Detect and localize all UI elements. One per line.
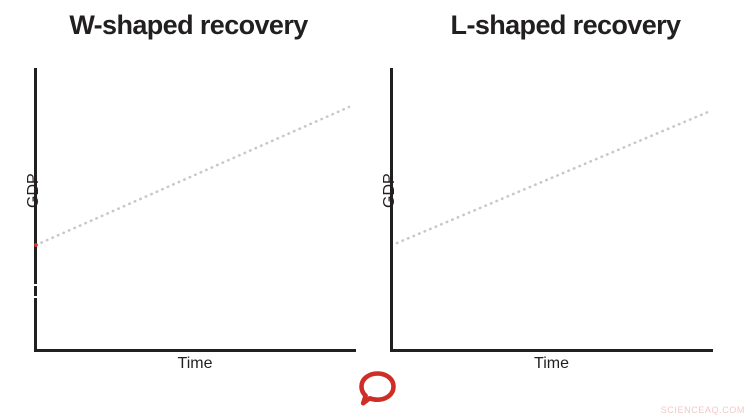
y-axis-line-w-shaped <box>34 68 37 352</box>
plot-area-w-shaped <box>34 68 356 352</box>
x-axis-label-l-shaped: Time <box>390 355 713 373</box>
y-axis-line-l-shaped <box>390 68 393 352</box>
y-axis-label-w-shaped: GDP <box>25 173 43 208</box>
plot-area-l-shaped <box>390 68 713 352</box>
chart-panel-w-shaped: W-shaped recovery GDP Time <box>0 0 377 390</box>
x-axis-line-w-shaped <box>34 349 356 352</box>
speech-bubble-logo <box>355 369 399 409</box>
y-axis-label-l-shaped: GDP <box>381 173 399 208</box>
figure-canvas: W-shaped recovery GDP Time L-shaped reco… <box>0 0 754 420</box>
chart-title-l-shaped: L-shaped recovery <box>377 10 754 41</box>
watermark-text: SCIENCEAQ.COM <box>661 405 745 415</box>
chart-title-w-shaped: W-shaped recovery <box>0 10 377 41</box>
x-axis-label-w-shaped: Time <box>34 355 356 373</box>
x-axis-line-l-shaped <box>390 349 713 352</box>
